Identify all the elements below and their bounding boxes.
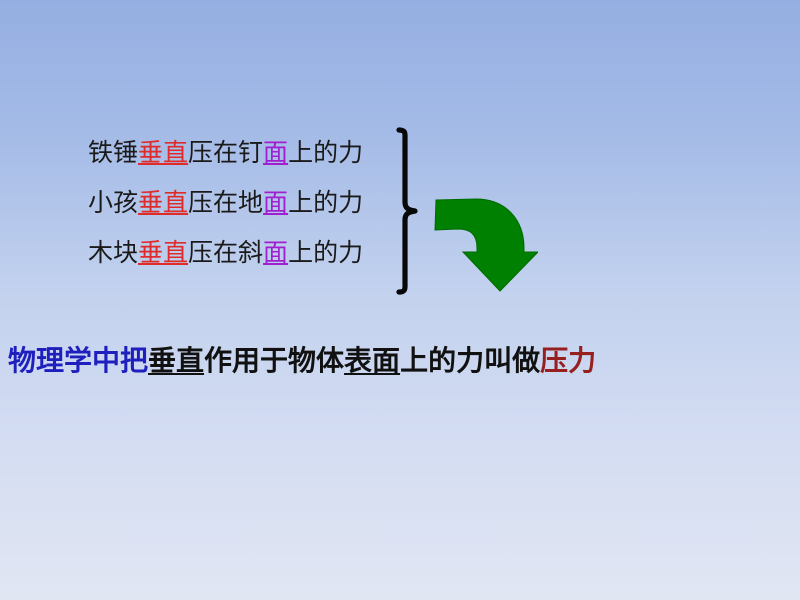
segment-surface: 面 [263,138,288,167]
segment-subject: 木块 [88,238,138,267]
example-line-block-incline: 木块垂直压在斜面上的力 [88,228,398,278]
definition-prefix: 物理学中把 [8,344,148,377]
segment-surface: 面 [263,188,288,217]
definition-is-called: 上的力叫做 [400,344,540,377]
green-bent-arrow-icon [428,192,538,292]
definition-sentence: 物理学中把垂直作用于物体表面上的力叫做压力 [8,342,596,380]
segment-subject: 小孩 [88,188,138,217]
example-line-child-ground: 小孩垂直压在地面上的力 [88,178,398,228]
slide-canvas: 铁锤垂直压在钉面上的力 小孩垂直压在地面上的力 木块垂直压在斜面上的力 物理学中… [0,0,800,600]
example-line-hammer-nail: 铁锤垂直压在钉面上的力 [88,128,398,178]
segment-surface: 面 [263,238,288,267]
force-examples-list: 铁锤垂直压在钉面上的力 小孩垂直压在地面上的力 木块垂直压在斜面上的力 [88,128,398,278]
segment-press-on: 压在地 [188,188,263,217]
segment-force-suffix: 上的力 [288,188,363,217]
definition-acting-on: 作用于物体 [204,344,344,377]
segment-force-suffix: 上的力 [288,238,363,267]
segment-press-on: 压在钉 [188,138,263,167]
definition-term-pressure-force: 压力 [540,344,596,377]
definition-keyword-perpendicular: 垂直 [148,344,204,377]
segment-perpendicular: 垂直 [138,238,188,267]
right-curly-brace-icon [392,126,426,296]
definition-keyword-surface: 表面 [344,344,400,377]
segment-perpendicular: 垂直 [138,138,188,167]
segment-subject: 铁锤 [88,138,138,167]
segment-force-suffix: 上的力 [288,138,363,167]
segment-perpendicular: 垂直 [138,188,188,217]
segment-press-on: 压在斜 [188,238,263,267]
